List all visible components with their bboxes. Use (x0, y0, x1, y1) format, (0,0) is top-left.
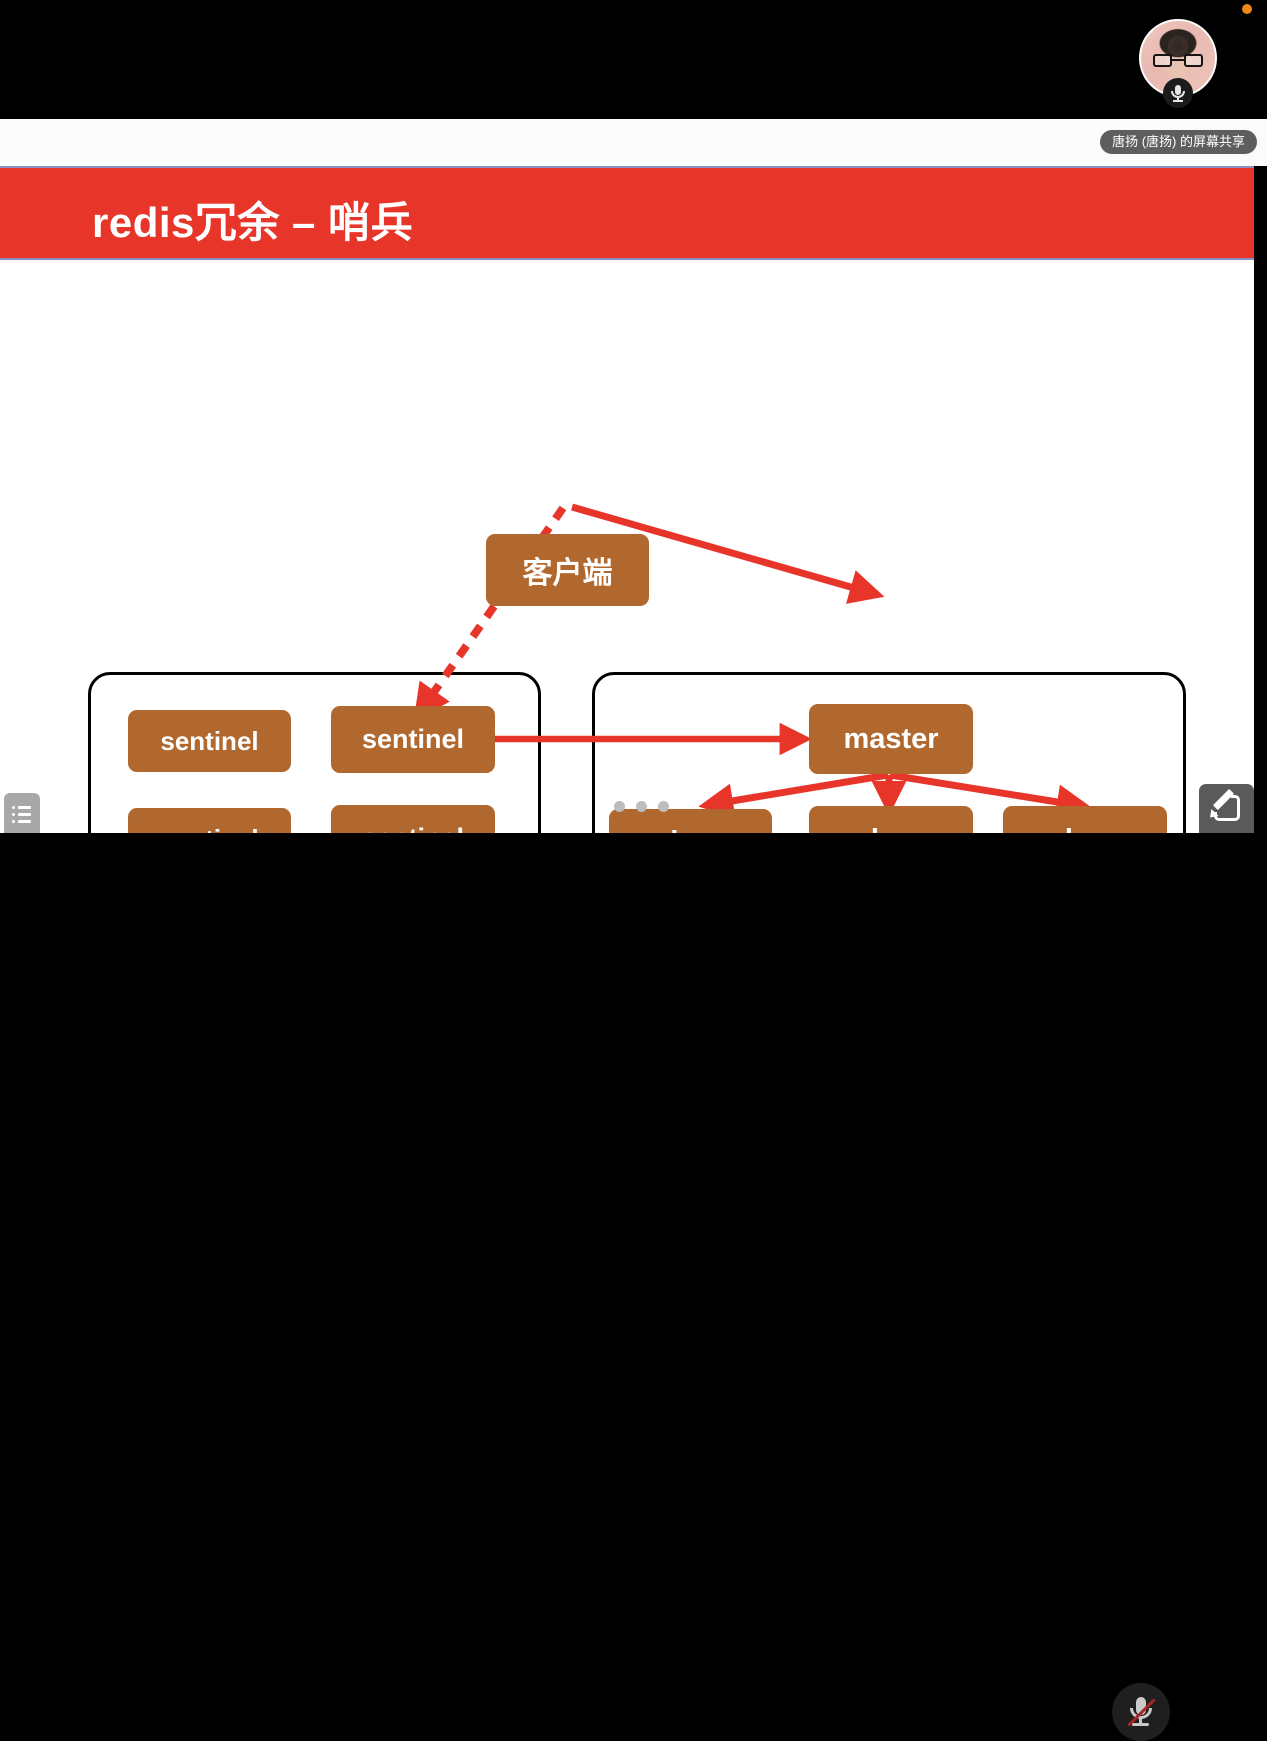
node-sentinel-1[interactable]: sentinel (128, 710, 291, 772)
meeting-toolbar (0, 833, 1267, 950)
list-bullet-2 (12, 813, 15, 816)
node-master[interactable]: master (809, 704, 973, 774)
screen-share-strip: 唐扬 (唐扬) 的屏幕共享 (0, 119, 1267, 166)
shared-slide: redis冗余 – 哨兵 (0, 166, 1258, 833)
list-line-3 (18, 820, 31, 823)
annotate-button[interactable] (1199, 784, 1254, 833)
page-title: redis冗余 – 哨兵 (92, 189, 413, 250)
page-dot-3[interactable] (658, 801, 669, 812)
glasses-lens-left (1153, 54, 1172, 67)
node-client[interactable]: 客户端 (486, 534, 649, 606)
node-sentinel-2[interactable]: sentinel (331, 706, 495, 773)
glasses-bridge (1172, 59, 1184, 61)
glasses-lens-right (1184, 54, 1203, 67)
microphone-icon (1163, 78, 1193, 108)
diagram-canvas: 客户端 sentinel sentinel sentinel sentinel … (0, 260, 1254, 831)
slide-title-bar: redis冗余 – 哨兵 (0, 166, 1254, 260)
list-bullet-3 (12, 820, 15, 823)
list-line-1 (18, 806, 31, 809)
glasses-icon (1153, 54, 1203, 67)
page-indicator-dots[interactable] (614, 801, 674, 813)
mic-base (1173, 100, 1183, 102)
mute-toggle-button[interactable] (1112, 1683, 1170, 1741)
page-dot-2[interactable] (636, 801, 647, 812)
screen-share-label: 唐扬 (唐扬) 的屏幕共享 (1100, 130, 1257, 154)
slide-menu-button[interactable] (4, 793, 40, 833)
video-strip (0, 0, 1267, 119)
mic-base (1132, 1723, 1149, 1726)
page-dot-1[interactable] (614, 801, 625, 812)
list-line-2 (18, 813, 31, 816)
recording-indicator-dot (1242, 4, 1252, 14)
list-bullet-1 (12, 806, 15, 809)
